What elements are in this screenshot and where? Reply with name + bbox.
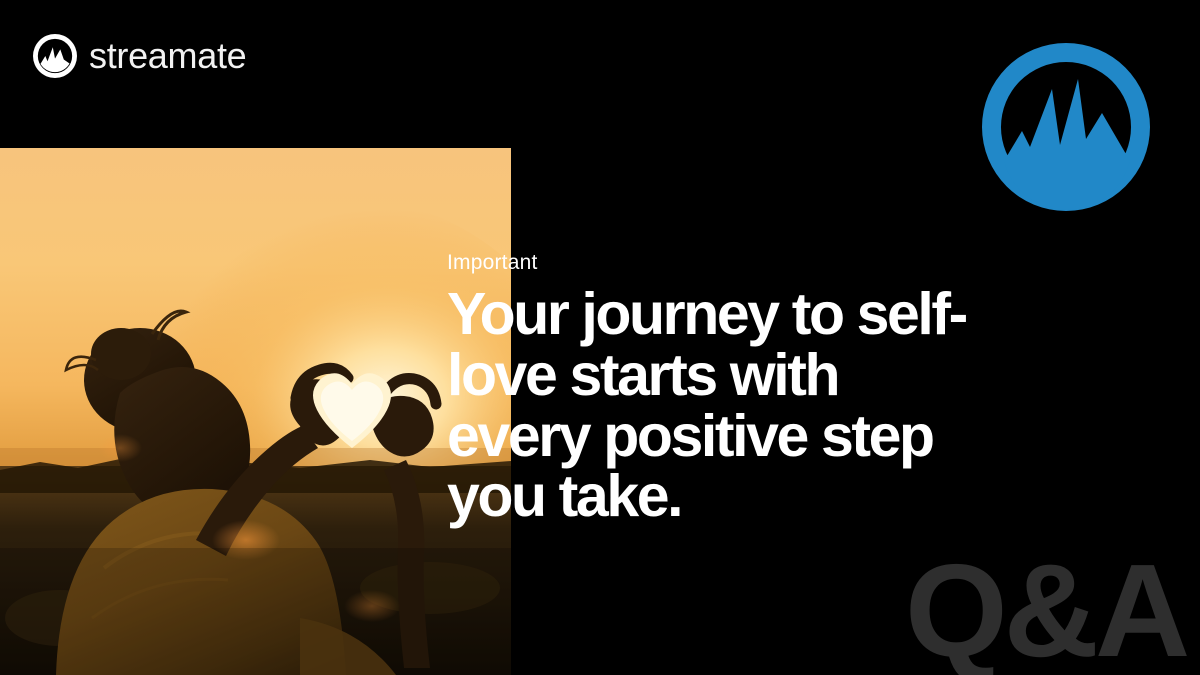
qa-watermark: Q&A [905, 545, 1186, 675]
headline-line-2: love starts with [447, 345, 1137, 406]
brand-lockup: streamate [33, 34, 246, 78]
brand-mark-svg [33, 34, 77, 78]
corner-logo-svg [982, 33, 1150, 221]
headline-block: Important Your journey to self- love sta… [447, 252, 1147, 527]
headline-line-4: you take. [447, 466, 1137, 527]
streamate-mountain-circle-icon [982, 33, 1150, 221]
page-title: Your journey to self- love starts with e… [447, 284, 1137, 527]
brand-wordmark: streamate [89, 38, 246, 74]
woman-sunset-heart-hands-photo [0, 148, 511, 675]
headline-line-1: Your journey to self- [447, 284, 1137, 345]
slide-canvas: streamate Q&A Important Your journey to … [0, 0, 1200, 675]
headline-line-3: every positive step [447, 406, 1137, 467]
photo-artwork [0, 148, 511, 675]
streamate-mountain-circle-icon [33, 34, 77, 78]
eyebrow-label: Important [447, 252, 1147, 273]
